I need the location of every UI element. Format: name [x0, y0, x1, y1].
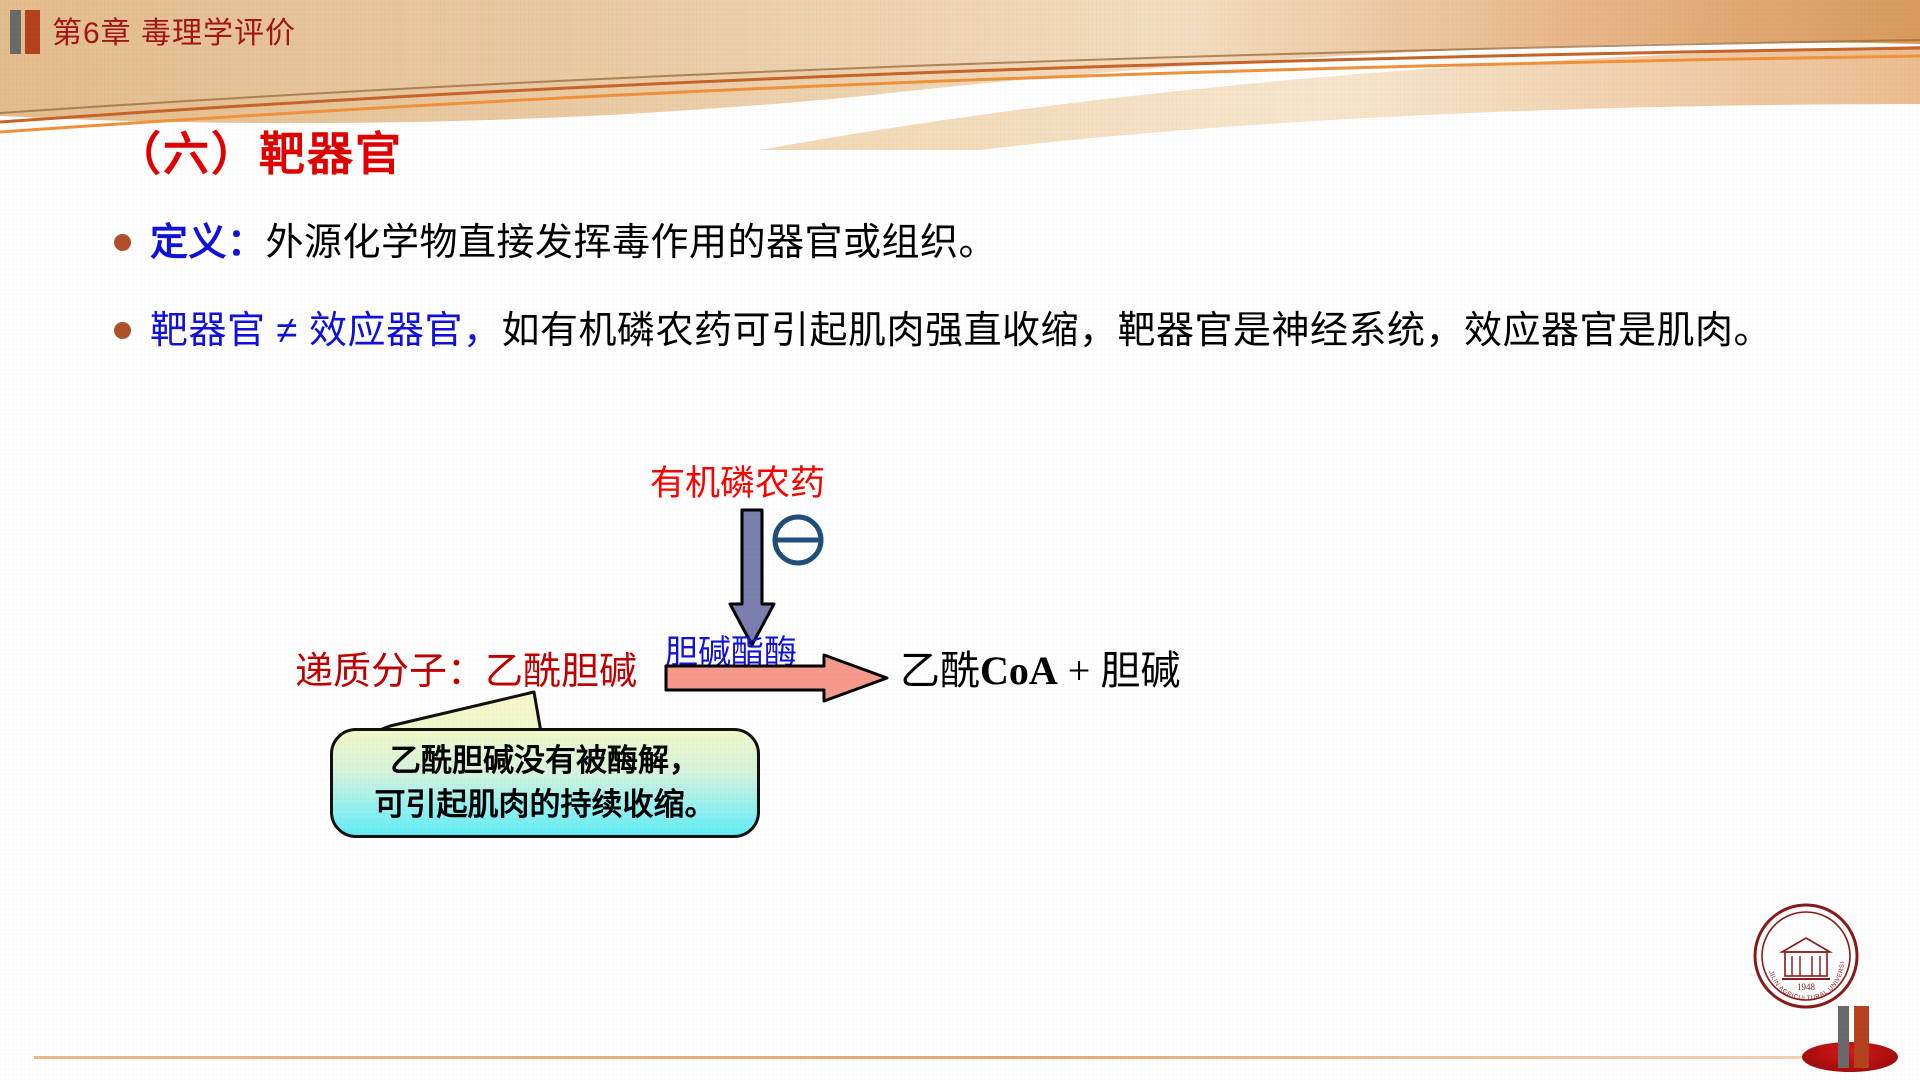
svg-text:1948: 1948 — [1797, 982, 1816, 992]
callout-line-1: 乙酰胆碱没有被酶解， — [390, 739, 700, 783]
list-item: 靶器官 ≠ 效应器官，如有机磷农药可引起肌肉强直收缩，靶器官是神经系统，效应器官… — [108, 296, 1828, 366]
university-seal-icon: 1948 JILIN AGRICULTURAL UNIVERSITY — [1752, 902, 1860, 1010]
bullet-dot-icon — [114, 322, 131, 339]
products-suffix: + 胆碱 — [1058, 648, 1181, 693]
chapter-title: 第6章 毒理学评价 — [52, 8, 296, 52]
right-block-arrow-icon — [664, 652, 890, 704]
list-item: 定义：外源化学物直接发挥毒作用的器官或组织。 — [108, 208, 1828, 278]
bullet-dot-icon — [114, 234, 131, 251]
presentation-slide: 第6章 毒理学评价 （六）靶器官 定义：外源化学物直接发挥毒作用的器官或组织。 … — [0, 0, 1920, 1080]
products-prefix: 乙酰 — [900, 648, 980, 693]
substrate-label: 递质分子：乙酰胆碱 — [295, 640, 637, 695]
footer-bar-icon — [1838, 1006, 1880, 1068]
bullet-list: 定义：外源化学物直接发挥毒作用的器官或组织。 靶器官 ≠ 效应器官，如有机磷农药… — [108, 208, 1828, 384]
bullet-keyword: 靶器官 ≠ 效应器官， — [150, 310, 501, 352]
inhibitor-label: 有机磷农药 — [650, 455, 825, 506]
products-label: 乙酰CoA + 胆碱 — [900, 638, 1180, 696]
bullet-body: 如有机磷农药可引起肌肉强直收缩，靶器官是神经系统，效应器官是肌肉。 — [501, 310, 1772, 352]
reaction-diagram: 有机磷农药 胆碱酯酶 递质分子：乙酰胆碱 乙酰CoA + 胆碱 — [0, 440, 1920, 920]
callout-line-2: 可引起肌肉的持续收缩。 — [375, 783, 716, 827]
bullet-keyword: 定义： — [150, 222, 266, 264]
page-title: （六）靶器官 — [115, 118, 403, 184]
callout-text: 乙酰胆碱没有被酶解， 可引起肌肉的持续收缩。 — [330, 728, 760, 838]
chapter-bar-icon — [10, 10, 44, 54]
footer-divider — [34, 1056, 1804, 1059]
bullet-body: 外源化学物直接发挥毒作用的器官或组织。 — [266, 222, 998, 264]
circled-minus-icon — [770, 512, 826, 568]
products-coa: CoA — [980, 648, 1058, 693]
callout-box: 乙酰胆碱没有被酶解， 可引起肌肉的持续收缩。 — [330, 728, 760, 838]
